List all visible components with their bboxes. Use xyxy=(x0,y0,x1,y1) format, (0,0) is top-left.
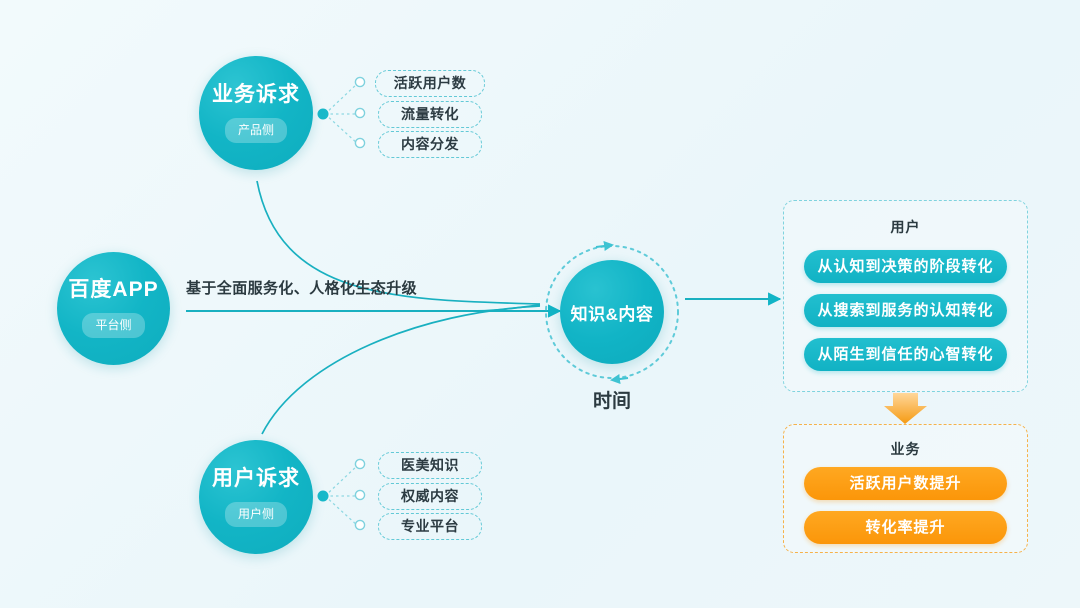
diagram-canvas: 百度APP 平台侧 基于全面服务化、人格化生态升级 业务诉求 产品侧 活跃用户数… xyxy=(0,0,1080,608)
outcome-pill-user[interactable]: 从搜索到服务的认知转化 xyxy=(804,294,1007,327)
outcome-pill-user[interactable]: 从认知到决策的阶段转化 xyxy=(804,250,1007,283)
outcome-pill-user[interactable]: 从陌生到信任的心智转化 xyxy=(804,338,1007,371)
baseline-caption: 基于全面服务化、人格化生态升级 xyxy=(186,277,417,298)
panel-transition-arrow xyxy=(884,393,927,424)
node-platform-badge: 平台侧 xyxy=(82,313,144,338)
outcome-pill-business[interactable]: 转化率提升 xyxy=(804,511,1007,544)
node-center[interactable]: 知识&内容 xyxy=(560,260,664,364)
node-user-title: 用户诉求 xyxy=(212,468,300,489)
node-user[interactable]: 用户诉求 用户侧 xyxy=(199,440,313,554)
time-axis-label: 时间 xyxy=(543,386,681,413)
business-tag[interactable]: 内容分发 xyxy=(378,131,482,158)
node-center-wrap: 知识&内容 xyxy=(543,243,681,381)
flow-curves xyxy=(186,181,540,434)
business-tag[interactable]: 活跃用户数 xyxy=(375,70,485,97)
panel-business-title: 业务 xyxy=(784,439,1027,459)
user-tag[interactable]: 专业平台 xyxy=(378,513,482,540)
business-tag[interactable]: 流量转化 xyxy=(378,101,482,128)
node-platform[interactable]: 百度APP 平台侧 xyxy=(57,252,170,365)
panel-business-outcomes: 业务 活跃用户数提升 转化率提升 xyxy=(783,424,1028,553)
user-tag[interactable]: 权威内容 xyxy=(378,483,482,510)
outcome-pill-business[interactable]: 活跃用户数提升 xyxy=(804,467,1007,500)
user-branch-connectors xyxy=(318,459,365,529)
node-business-badge: 产品侧 xyxy=(225,118,287,143)
business-branch-connectors xyxy=(318,77,365,147)
node-user-badge: 用户侧 xyxy=(225,502,287,527)
panel-user-title: 用户 xyxy=(784,217,1027,237)
panel-user-outcomes: 用户 从认知到决策的阶段转化 从搜索到服务的认知转化 从陌生到信任的心智转化 xyxy=(783,200,1028,392)
node-business-title: 业务诉求 xyxy=(212,84,300,105)
node-business[interactable]: 业务诉求 产品侧 xyxy=(199,56,313,170)
user-tag[interactable]: 医美知识 xyxy=(378,452,482,479)
node-platform-title: 百度APP xyxy=(68,279,158,300)
